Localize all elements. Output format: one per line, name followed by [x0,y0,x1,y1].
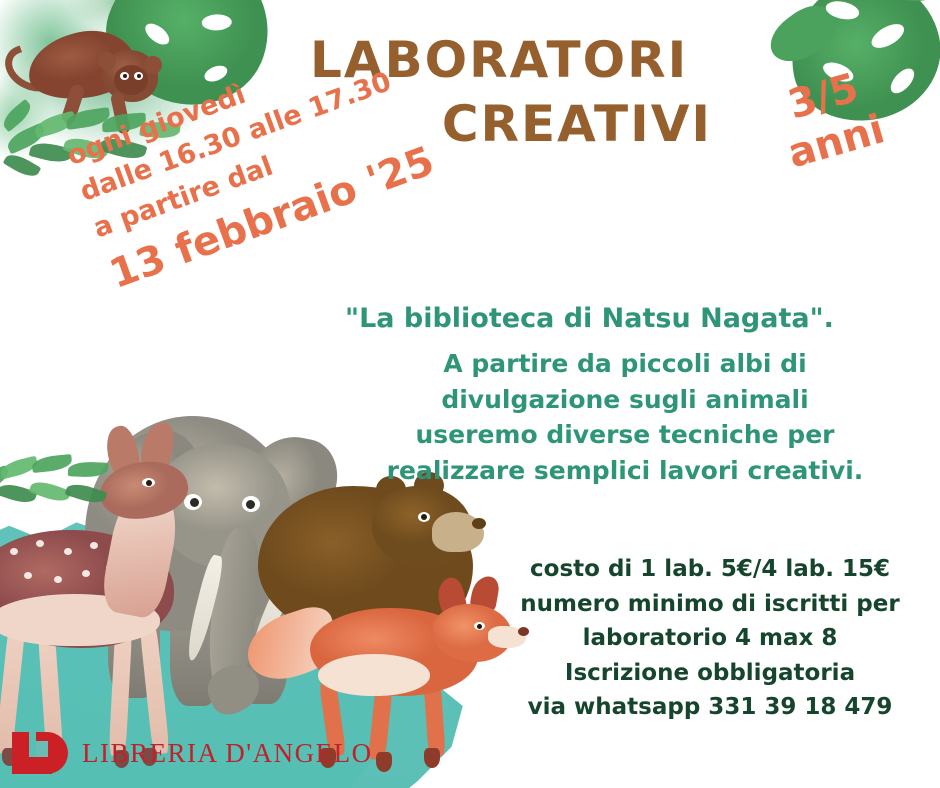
description-line: useremo diverse tecniche per [345,417,905,453]
description-headline: "La biblioteca di Natsu Nagata". [345,300,905,338]
registration-info-block: costo di 1 lab. 5€/4 lab. 15€ numero min… [500,552,920,725]
description-line: realizzare semplici lavori creativi. [345,453,905,489]
info-min-participants: numero minimo di iscritti per [500,587,920,622]
info-registration-required: Iscrizione obbligatoria [500,656,920,691]
description-block: "La biblioteca di Natsu Nagata". A parti… [345,300,905,488]
info-max-participants: laboratorio 4 max 8 [500,621,920,656]
description-line: divulgazione sugli animali [345,382,905,418]
schedule-block: ogni giovedì dalle 16.30 alle 17.30 a pa… [62,23,442,303]
ld-monogram-icon [12,732,68,774]
lower-leaf-sprig-icon [0,444,120,524]
info-cost: costo di 1 lab. 5€/4 lab. 15€ [500,552,920,587]
info-whatsapp-contact: via whatsapp 331 39 18 479 [500,690,920,725]
bookshop-name: LIBRERIA D'ANGELO [82,738,373,769]
description-line: A partire da piccoli albi di [345,346,905,382]
monkey-illustration [10,10,160,125]
bookshop-logo: LIBRERIA D'ANGELO [12,732,373,774]
age-range-badge: 3/5 anni [770,61,890,179]
poster-canvas: LABORATORI CREATIVI 3/5 anni ogni gioved… [0,0,940,788]
